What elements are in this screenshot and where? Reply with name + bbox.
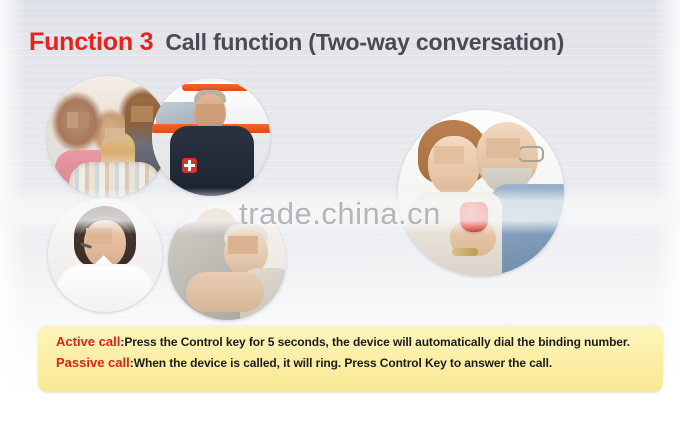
operator-shirt bbox=[56, 264, 154, 312]
active-call-label: Active call bbox=[56, 334, 120, 349]
call-instructions-note: Active call : Press the Control key for … bbox=[38, 325, 663, 392]
photo-call-center-operator-image bbox=[48, 198, 162, 312]
photo-elderly-couple-with-sos-button-image bbox=[398, 110, 564, 276]
paramedic-emblem-icon bbox=[182, 158, 197, 173]
sos-call-button-device bbox=[460, 202, 488, 232]
function-title-label: Call function (Two-way conversation) bbox=[165, 29, 564, 56]
note-line-active-call: Active call : Press the Control key for … bbox=[56, 334, 649, 349]
photo-elderly-caregiving-image bbox=[168, 202, 286, 320]
active-call-description: Press the Control key for 5 seconds, the… bbox=[124, 335, 630, 349]
passive-call-description: When the device is called, it will ring.… bbox=[134, 356, 552, 370]
note-line-passive-call: Passive call : When the device is called… bbox=[56, 355, 649, 370]
wristwatch bbox=[452, 248, 478, 256]
photo-call-center-operator bbox=[48, 198, 162, 312]
sofa-cushion bbox=[69, 162, 161, 198]
photo-paramedic-with-ambulance bbox=[152, 78, 270, 196]
held-hands bbox=[186, 272, 264, 312]
paramedic-head bbox=[194, 94, 226, 130]
photo-elderly-caregiving bbox=[168, 202, 286, 320]
ambulance-roof-stripe bbox=[182, 84, 270, 91]
photo-elderly-couple-with-sos-button bbox=[398, 110, 564, 276]
photo-family-on-sofa-image bbox=[47, 76, 169, 198]
face-pixelation-block bbox=[67, 112, 89, 128]
photo-paramedic-with-ambulance-image bbox=[152, 78, 270, 196]
photo-family-on-sofa bbox=[47, 76, 169, 198]
slide-canvas: Function 3 Call function (Two-way conver… bbox=[0, 0, 680, 428]
function-number-label: Function 3 bbox=[29, 28, 153, 57]
page-title: Function 3 Call function (Two-way conver… bbox=[29, 28, 564, 57]
woman-face bbox=[428, 136, 480, 196]
eyeglasses-icon bbox=[518, 146, 544, 162]
passive-call-label: Passive call bbox=[56, 355, 130, 370]
